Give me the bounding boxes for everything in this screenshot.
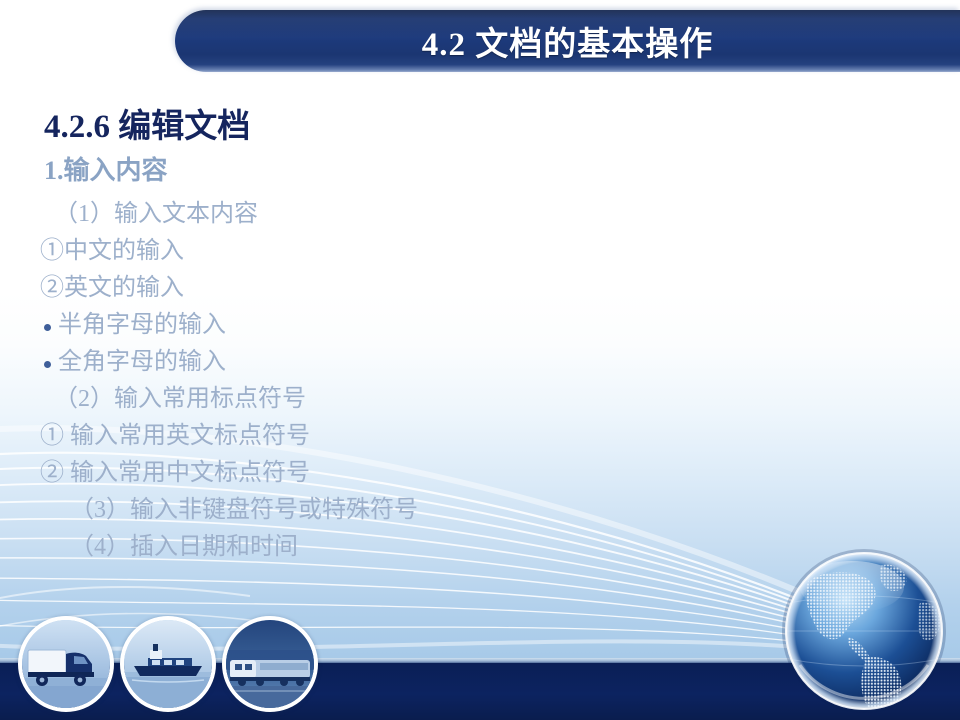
- list-item: 半角字母的输入: [40, 307, 660, 344]
- bullet-dot-icon: [44, 324, 51, 331]
- list-item: （2）输入常用标点符号: [40, 381, 660, 418]
- list-item-label: （4）插入日期和时间: [70, 534, 298, 560]
- list-item: ①中文的输入: [40, 233, 660, 270]
- list-item: ②英文的输入: [40, 270, 660, 307]
- list-item: （3）输入非键盘符号或特殊符号: [40, 492, 660, 529]
- globe-graphic: [778, 545, 950, 717]
- slide-canvas: 4.2 文档的基本操作 4.2.6 编辑文档 1.输入内容 （1）输入文本内容①…: [0, 0, 960, 720]
- list-item-label: 半角字母的输入: [58, 312, 226, 338]
- list-item-label: （2）输入常用标点符号: [54, 386, 306, 412]
- bullet-dot-icon: [44, 361, 51, 368]
- section-heading: 4.2.6 编辑文档: [44, 99, 250, 147]
- list-item: ① 输入常用英文标点符号: [40, 418, 660, 455]
- list-item-label: （1）输入文本内容: [54, 201, 258, 227]
- list-item: 全角字母的输入: [40, 344, 660, 381]
- subsection-heading: 1.输入内容: [44, 150, 168, 187]
- list-item-label: ①中文的输入: [40, 238, 184, 264]
- cargo-ship-photo: [120, 616, 216, 712]
- truck-photo: [18, 616, 114, 712]
- content-list: （1）输入文本内容①中文的输入②英文的输入半角字母的输入全角字母的输入（2）输入…: [40, 196, 660, 566]
- list-item-label: （3）输入非键盘符号或特殊符号: [70, 497, 418, 523]
- train-photo: [222, 616, 318, 712]
- list-item: （1）输入文本内容: [40, 196, 660, 233]
- list-item: ② 输入常用中文标点符号: [40, 455, 660, 492]
- list-item-label: ① 输入常用英文标点符号: [40, 423, 310, 449]
- list-item-label: ② 输入常用中文标点符号: [40, 460, 310, 486]
- list-item-label: 全角字母的输入: [58, 349, 226, 375]
- slide-title: 4.2 文档的基本操作: [175, 10, 960, 72]
- list-item-label: ②英文的输入: [40, 275, 184, 301]
- list-item: （4）插入日期和时间: [40, 529, 660, 566]
